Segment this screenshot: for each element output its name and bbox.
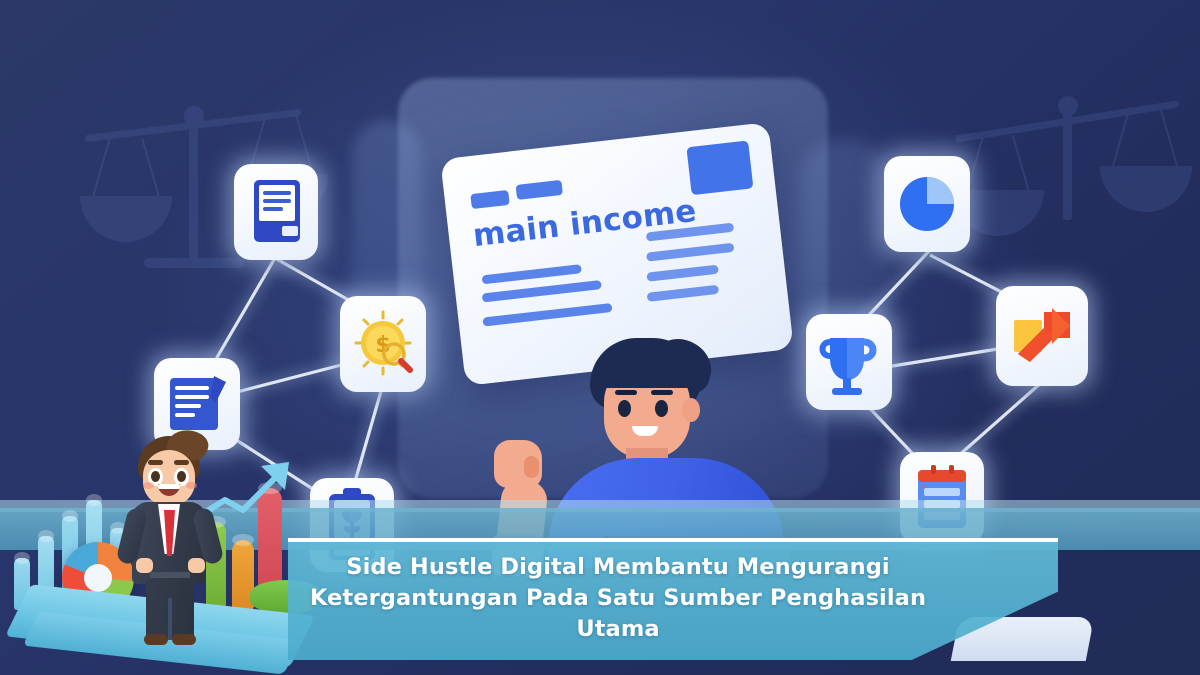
card-line [482, 280, 602, 303]
trophy-icon [806, 314, 892, 410]
person-fringe [598, 352, 696, 388]
person-eye [655, 400, 668, 417]
node-mobile-document[interactable] [234, 164, 318, 260]
businessman-pupil [177, 471, 186, 482]
card-line [482, 303, 612, 327]
card-tag [516, 180, 563, 200]
businessman-cheek [186, 482, 197, 489]
person-eye [618, 400, 631, 417]
businessman-brow [174, 460, 189, 465]
businessman-hand [188, 558, 205, 573]
page-title: Side Hustle Digital Membantu Mengurangi … [288, 552, 948, 645]
card-line [646, 265, 719, 282]
businessman-pupil [151, 471, 160, 482]
node-pie-chart[interactable] [884, 156, 970, 252]
card-line [482, 264, 582, 284]
3d-businessman-figure [110, 430, 228, 648]
businessman-leg-gap [168, 598, 172, 640]
card-line [647, 285, 720, 302]
infographic-scene [0, 430, 330, 675]
businessman-shoe [172, 634, 196, 645]
node-growth-arrow[interactable] [996, 286, 1088, 386]
businessman-shoe [144, 634, 168, 645]
coin-search-icon: $ [340, 296, 426, 392]
person-brow [651, 390, 673, 395]
banner-stage: main income [0, 0, 1200, 675]
pie-chart-icon [884, 156, 970, 252]
node-coin-search[interactable]: $ [340, 296, 426, 392]
businessman-hand [136, 558, 153, 573]
businessman-cheek [143, 482, 154, 489]
card-line [646, 243, 734, 262]
businessman-brow [148, 460, 163, 465]
person-thumb [524, 456, 539, 478]
mobile-document-icon [234, 164, 318, 260]
person-ear [682, 398, 700, 422]
node-trophy[interactable] [806, 314, 892, 410]
person-brow [615, 390, 637, 395]
businessman-teeth [158, 484, 180, 489]
card-badge [686, 140, 753, 195]
card-tag [470, 190, 509, 209]
growth-arrow-icon [996, 286, 1088, 386]
